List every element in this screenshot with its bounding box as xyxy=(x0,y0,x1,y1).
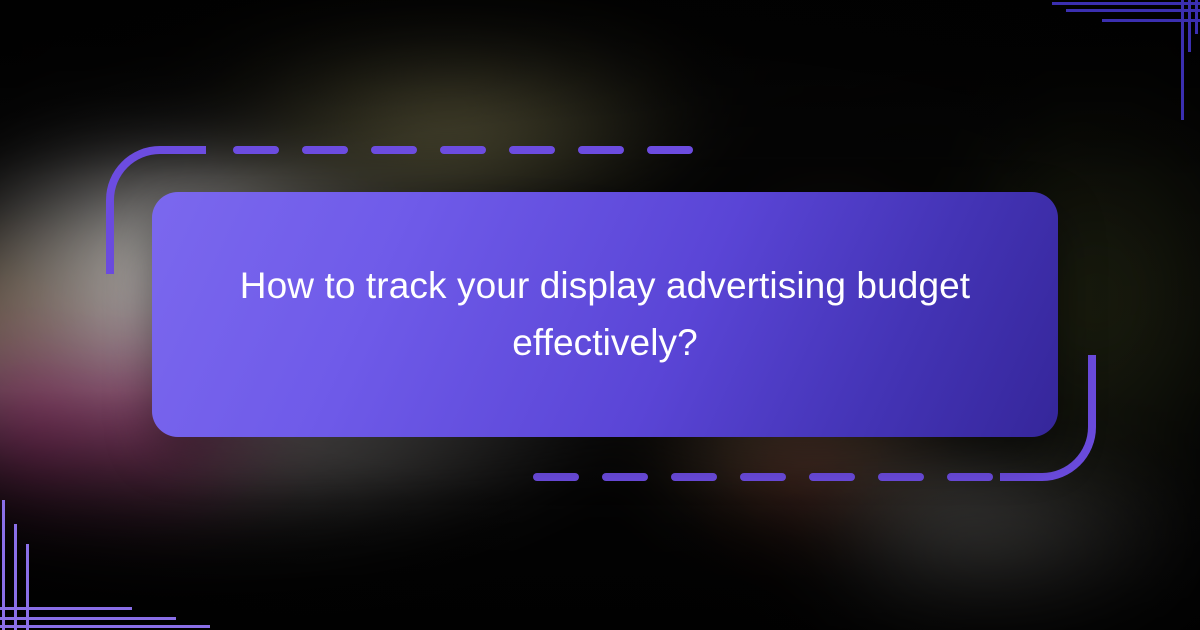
corner-line-horizontal xyxy=(1052,2,1200,5)
dash-segment xyxy=(440,146,486,154)
corner-line-horizontal xyxy=(0,625,210,628)
dash-segment xyxy=(647,146,693,154)
dash-segment xyxy=(740,473,786,481)
dash-segment xyxy=(233,146,279,154)
corner-line-horizontal xyxy=(0,607,132,610)
corner-grid-lines-icon xyxy=(0,500,160,630)
dash-segment xyxy=(509,146,555,154)
social-share-card-canvas: How to track your display advertising bu… xyxy=(0,0,1200,630)
dashed-rule-bottom xyxy=(533,473,993,481)
dash-segment xyxy=(533,473,579,481)
dash-segment xyxy=(371,146,417,154)
corner-line-vertical xyxy=(1188,0,1191,52)
corner-line-vertical xyxy=(26,544,29,630)
dash-segment xyxy=(809,473,855,481)
dash-segment xyxy=(302,146,348,154)
dash-segment xyxy=(578,146,624,154)
corner-line-vertical xyxy=(1181,0,1184,120)
corner-grid-lines-icon xyxy=(1040,0,1200,120)
corner-line-horizontal xyxy=(1066,9,1200,12)
dash-segment xyxy=(947,473,993,481)
corner-line-horizontal xyxy=(1102,19,1200,22)
page-title: How to track your display advertising bu… xyxy=(216,258,994,370)
corner-line-vertical xyxy=(14,524,17,630)
dashed-rule-top xyxy=(233,146,693,154)
dash-segment xyxy=(602,473,648,481)
corner-line-vertical xyxy=(1195,0,1198,34)
corner-line-vertical xyxy=(2,500,5,630)
dash-segment xyxy=(878,473,924,481)
dash-segment xyxy=(671,473,717,481)
headline-card: How to track your display advertising bu… xyxy=(152,192,1058,437)
